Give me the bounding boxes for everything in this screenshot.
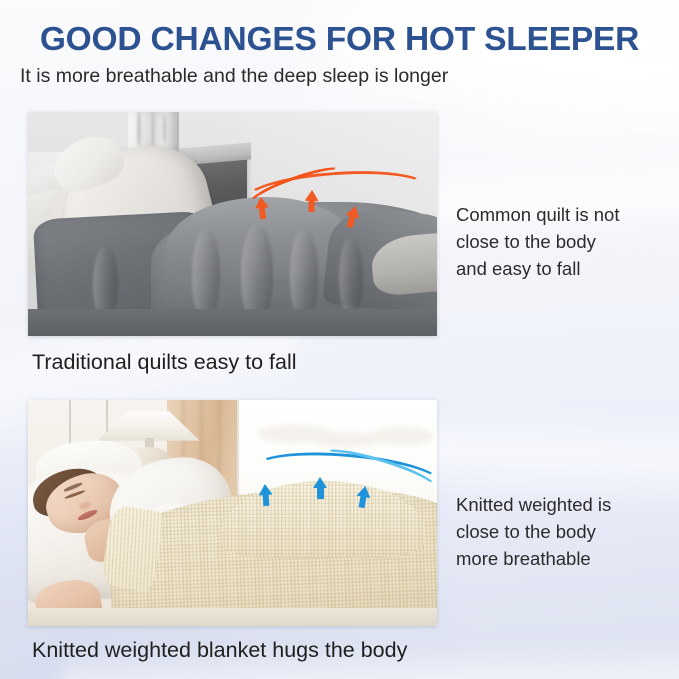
- under-caption-traditional: Traditional quilts easy to fall: [32, 348, 297, 376]
- comparison-photo-knitted: [28, 400, 437, 626]
- bed-base: [28, 608, 437, 626]
- marble-vein: [137, 112, 141, 146]
- page-title: GOOD CHANGES FOR HOT SLEEPER: [0, 21, 679, 59]
- infographic-canvas: GOOD CHANGES FOR HOT SLEEPER It is more …: [0, 0, 679, 679]
- comparison-photo-traditional: [28, 112, 437, 336]
- page-subtitle: It is more breathable and the deep sleep…: [20, 63, 448, 89]
- photo-knitted-blanket: [28, 400, 437, 626]
- sheer-curtain-fold: [372, 427, 433, 445]
- photo-traditional-quilt: [28, 112, 437, 336]
- side-caption-traditional: Common quilt is not close to the body an…: [456, 201, 619, 282]
- under-caption-knitted: Knitted weighted blanket hugs the body: [32, 636, 407, 664]
- mattress-edge: [28, 309, 437, 336]
- marble-vein: [163, 114, 166, 144]
- side-caption-knitted: Knitted weighted is close to the body mo…: [456, 491, 611, 572]
